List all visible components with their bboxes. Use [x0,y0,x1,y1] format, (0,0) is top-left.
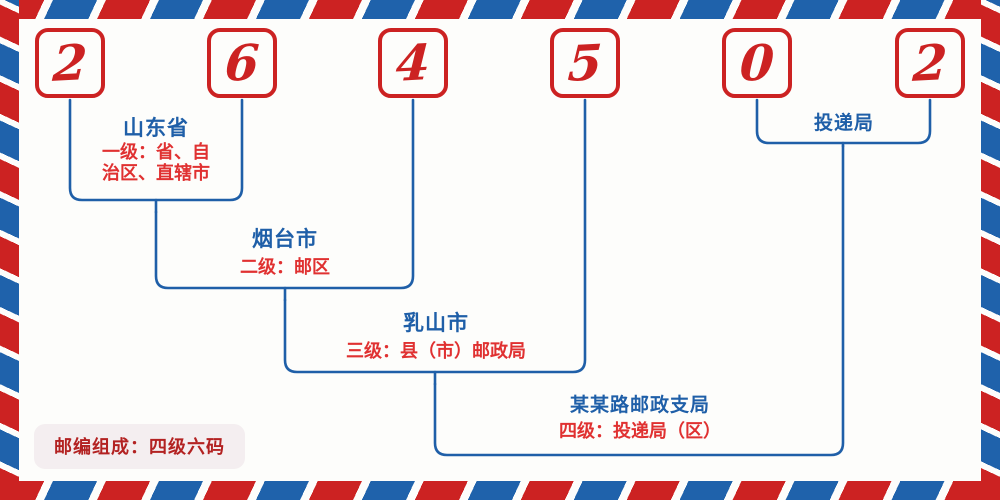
label-group-delivery-office: 投递局 [765,108,923,135]
level-1-title: 山东省 [76,112,236,142]
level-3-title: 乳山市 [296,307,576,337]
digit-glyph: 5 [567,38,604,89]
level-2-subtitle: 二级：邮区 [180,253,390,279]
label-group-level-4: 某某路邮政支局 四级：投递局（区） [450,390,830,443]
digit-glyph: 2 [912,38,949,89]
level-4-title: 某某路邮政支局 [450,390,830,417]
postcode-digit-6[interactable]: 2 [895,28,965,98]
level-1-subtitle-line-2: 治区、直辖市 [76,163,236,184]
postcode-digit-4[interactable]: 5 [550,28,620,98]
level-2-title: 烟台市 [180,223,390,253]
label-group-level-1: 山东省 一级：省、自 治区、直辖市 [76,112,236,184]
postcode-digit-2[interactable]: 6 [207,28,277,98]
digit-glyph: 0 [739,38,776,89]
postcode-digit-3[interactable]: 4 [378,28,448,98]
digit-glyph: 6 [224,38,261,89]
label-group-level-3: 乳山市 三级：县（市）邮政局 [296,307,576,363]
label-group-level-2: 烟台市 二级：邮区 [180,223,390,279]
postcode-digit-1[interactable]: 2 [35,28,105,98]
level-3-subtitle: 三级：县（市）邮政局 [296,337,576,363]
digit-glyph: 4 [395,38,432,89]
delivery-office-title: 投递局 [765,108,923,135]
postcode-digit-5[interactable]: 0 [722,28,792,98]
level-1-subtitle-line-1: 一级：省、自 [76,142,236,163]
legend-badge: 邮编组成：四级六码 [34,424,245,469]
level-4-subtitle: 四级：投递局（区） [450,417,830,443]
envelope-canvas: 2 6 4 5 0 2 山东省 一级：省、自 治区、直辖市 烟台市 二级：邮区 … [0,0,1000,500]
digit-glyph: 2 [52,38,89,89]
